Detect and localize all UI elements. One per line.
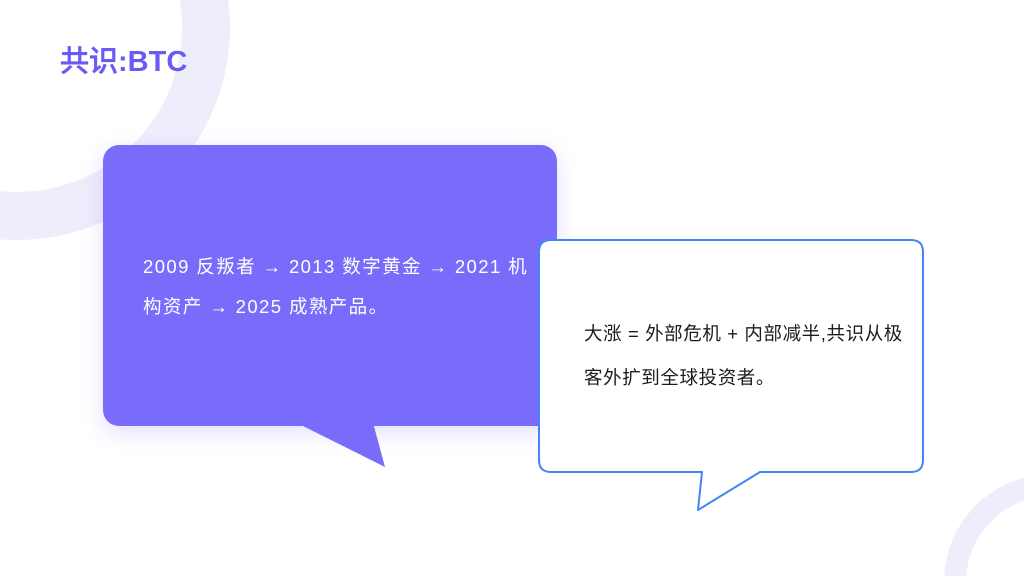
decorative-arc-bottom-right-icon <box>944 474 1024 576</box>
speech-bubble-filled-text: 2009 反叛者 → 2013 数字黄金 → 2021 机构资产 → 2025 … <box>143 247 543 327</box>
page-title: 共识:BTC <box>60 45 187 80</box>
speech-bubble-outlined-text: 大涨 = 外部危机 + 内部减半,共识从极客外扩到全球投资者。 <box>584 312 914 400</box>
speech-bubble-filled: 2009 反叛者 → 2013 数字黄金 → 2021 机构资产 → 2025 … <box>103 145 557 426</box>
slide-canvas: 共识:BTC 2009 反叛者 → 2013 数字黄金 → 2021 机构资产 … <box>0 0 1024 576</box>
speech-bubble-filled-tail-icon <box>289 419 389 473</box>
speech-bubble-outlined: 大涨 = 外部危机 + 内部减半,共识从极客外扩到全球投资者。 <box>538 239 924 474</box>
